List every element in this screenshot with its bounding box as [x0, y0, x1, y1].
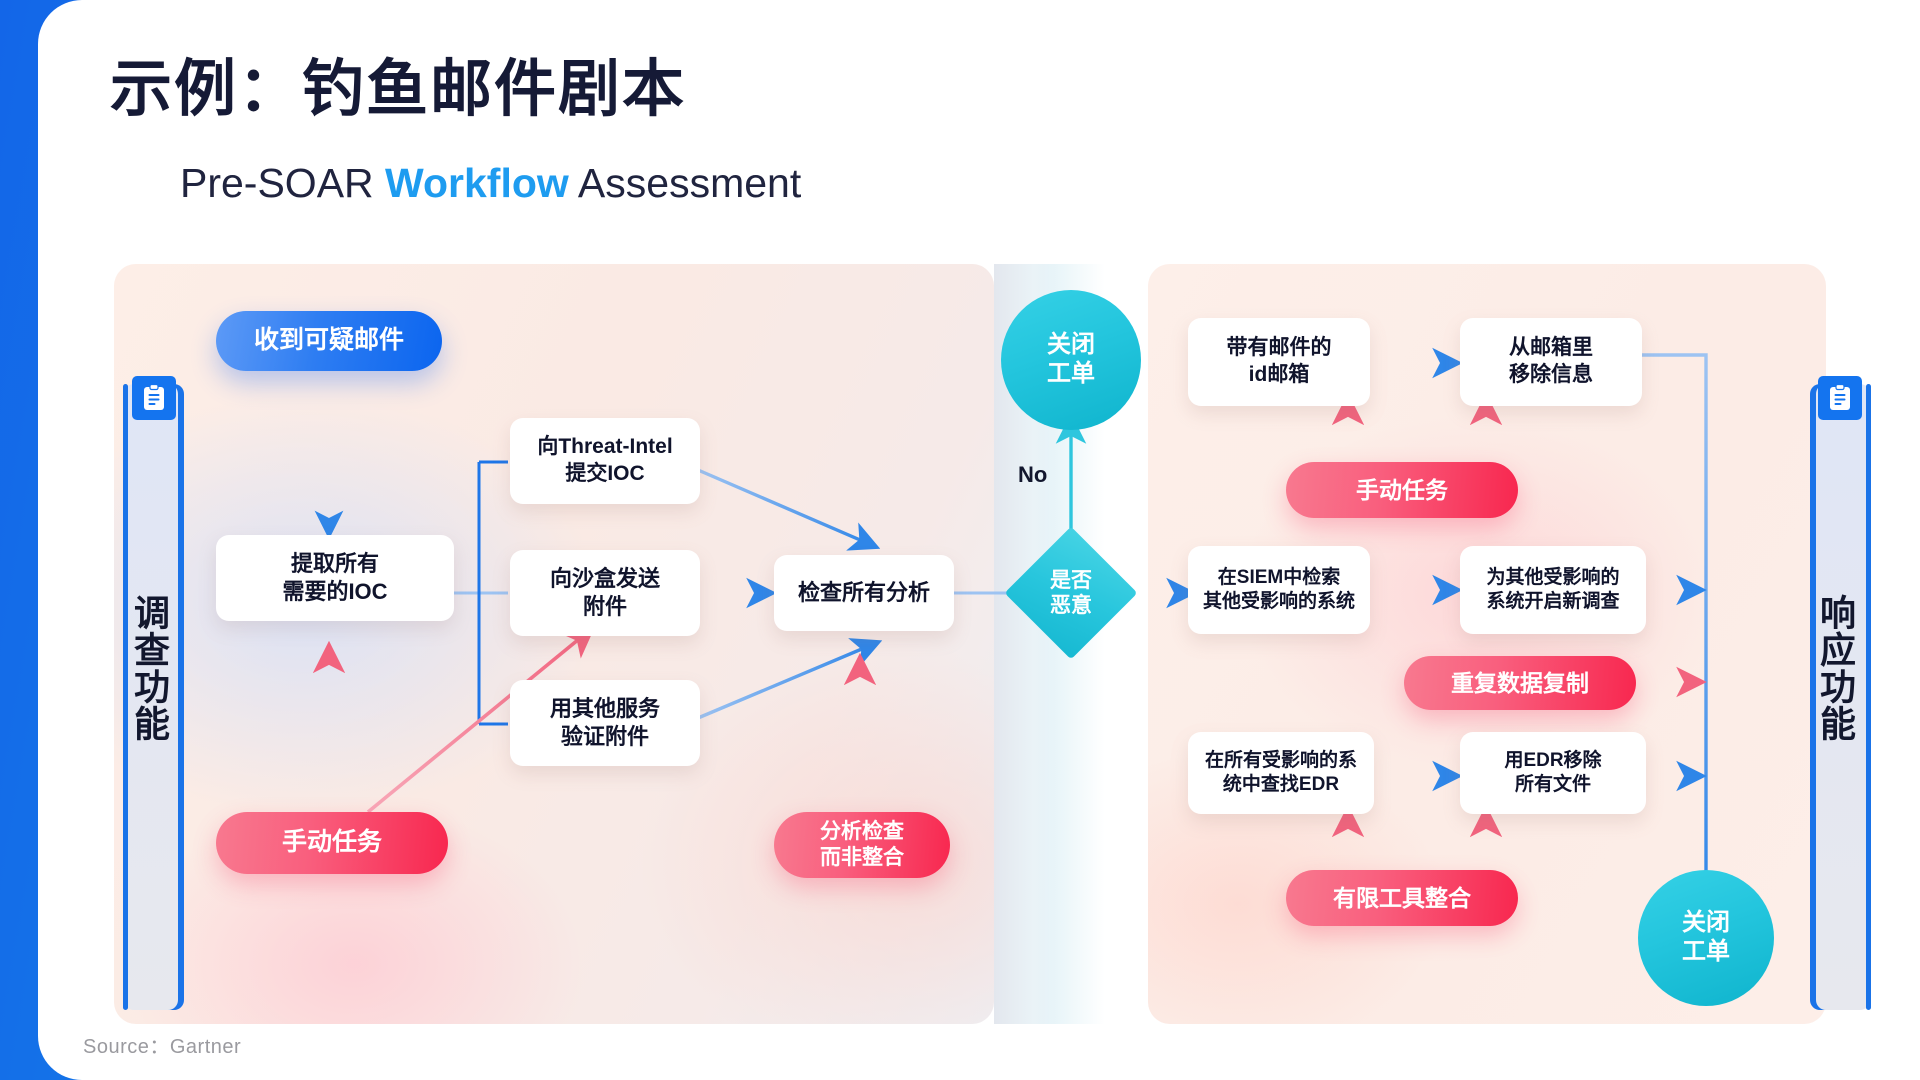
node-send-sandbox[interactable]: 向沙盒发送附件: [510, 550, 700, 636]
clipboard-icon: [1818, 376, 1862, 420]
rail-investigation-label: 调查功能: [139, 594, 169, 742]
rail-accent-bar: [123, 384, 128, 1010]
node-find-edr[interactable]: 在所有受影响的系统中查找EDR: [1188, 732, 1374, 814]
rail-accent-bar: [1866, 384, 1871, 1010]
subtitle-highlight: Workflow: [385, 160, 569, 206]
badge-duplicate-data[interactable]: 重复数据复制: [1404, 656, 1636, 710]
node-search-siem[interactable]: 在SIEM中检索其他受影响的系统: [1188, 546, 1370, 634]
node-submit-ti[interactable]: 向Threat-Intel提交IOC: [510, 418, 700, 504]
edge-label-no: No: [1018, 462, 1047, 488]
node-verify-attachment[interactable]: 用其他服务验证附件: [510, 680, 700, 766]
source-caption: Source：Gartner: [83, 1030, 241, 1059]
slide-card: 示例：钓鱼邮件剧本 Pre-SOAR Workflow Assessment: [38, 0, 1920, 1080]
node-extract-ioc[interactable]: 提取所有需要的IOC: [216, 535, 454, 621]
badge-analysis-not-integrated[interactable]: 分析检查而非整合: [774, 812, 950, 878]
badge-manual-task-right[interactable]: 手动任务: [1286, 462, 1518, 518]
subtitle-pre: Pre-SOAR: [180, 160, 385, 206]
page-subtitle: Pre-SOAR Workflow Assessment: [180, 160, 801, 207]
rail-response-label: 响应功能: [1825, 594, 1855, 742]
badge-manual-task-left[interactable]: 手动任务: [216, 812, 448, 874]
node-decision-malicious-label: 是否恶意: [1024, 546, 1118, 640]
node-close-ticket-top[interactable]: 关闭工单: [1001, 290, 1141, 430]
node-start[interactable]: 收到可疑邮件: [216, 311, 442, 371]
badge-limited-tool-integration[interactable]: 有限工具整合: [1286, 870, 1518, 926]
node-remove-from-mailbox[interactable]: 从邮箱里移除信息: [1460, 318, 1642, 406]
page-title: 示例：钓鱼邮件剧本: [110, 38, 686, 128]
node-new-investigation[interactable]: 为其他受影响的系统开启新调查: [1460, 546, 1646, 634]
node-id-mailbox[interactable]: 带有邮件的id邮箱: [1188, 318, 1370, 406]
node-check-analysis[interactable]: 检查所有分析: [774, 555, 954, 631]
rail-response: 响应功能: [1810, 384, 1870, 1010]
node-close-ticket-bottom[interactable]: 关闭工单: [1638, 870, 1774, 1006]
clipboard-icon: [132, 376, 176, 420]
subtitle-post: Assessment: [569, 160, 801, 206]
node-remove-files-edr[interactable]: 用EDR移除所有文件: [1460, 732, 1646, 814]
rail-investigation: 调查功能: [124, 384, 184, 1010]
investigation-panel: [114, 264, 994, 1024]
